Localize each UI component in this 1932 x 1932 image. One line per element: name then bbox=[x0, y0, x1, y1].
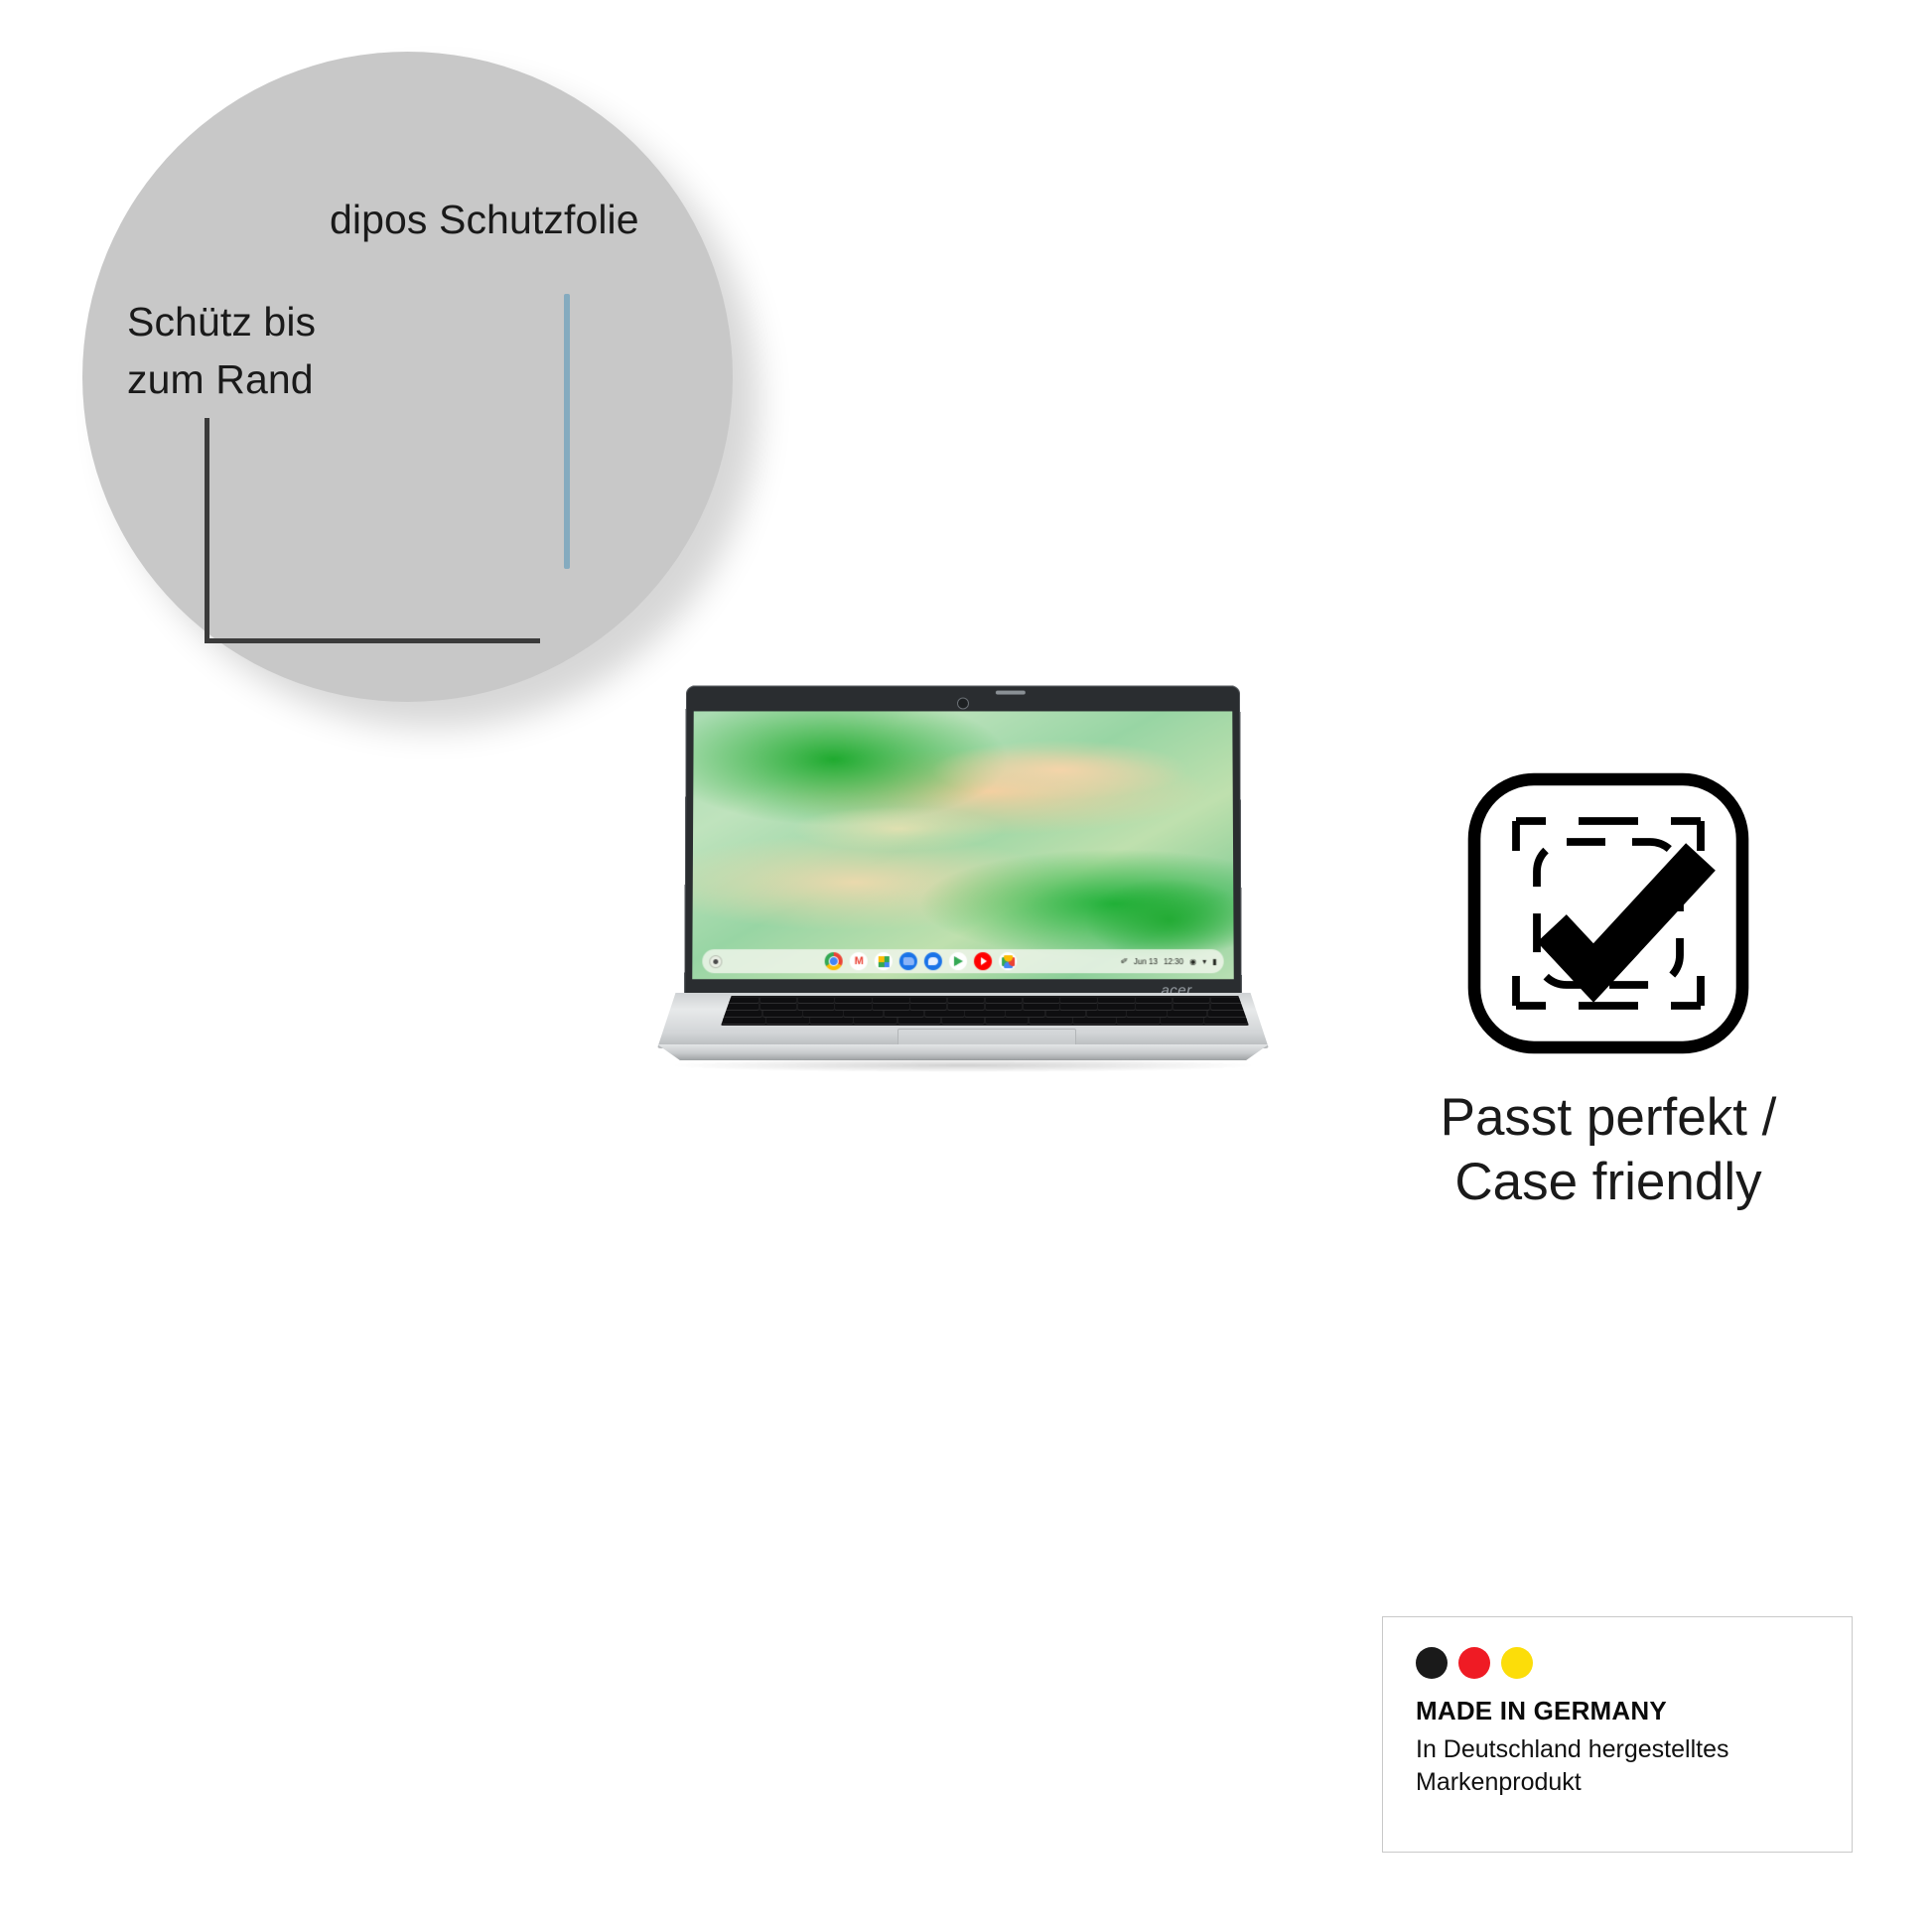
shelf-time: 12:30 bbox=[1164, 957, 1183, 966]
case-friendly-badge: Passt perfekt / Case friendly bbox=[1390, 764, 1827, 1214]
play-store-icon[interactable] bbox=[949, 952, 967, 970]
gmail-icon[interactable]: M bbox=[850, 952, 868, 970]
stylus-icon[interactable]: ✐ bbox=[1119, 955, 1129, 967]
launcher-button[interactable] bbox=[709, 955, 722, 968]
accessibility-icon[interactable]: ◉ bbox=[1189, 957, 1196, 966]
fit-check-icon bbox=[1459, 764, 1757, 1062]
made-in-germany-subtitle: In Deutschland hergestelltes Markenprodu… bbox=[1416, 1733, 1852, 1799]
chromeos-shelf: M ✐ Jun 13 12:30 ◉ ▾ ▮ bbox=[702, 949, 1223, 973]
shelf-app-list: M bbox=[722, 952, 1120, 970]
files-icon[interactable] bbox=[899, 952, 917, 970]
product-feature-graphic: dipos Schutzfolie Schütz bis zum Rand M bbox=[0, 0, 1932, 1932]
camera-slot bbox=[996, 691, 1026, 695]
key-row bbox=[721, 1018, 1249, 1023]
slides-icon[interactable] bbox=[875, 952, 893, 970]
chrome-icon[interactable] bbox=[825, 952, 843, 970]
youtube-icon[interactable] bbox=[975, 952, 993, 970]
key-row bbox=[721, 1011, 1249, 1016]
wifi-icon[interactable]: ▾ bbox=[1202, 957, 1206, 966]
bracket-vertical-line bbox=[205, 418, 209, 643]
camera-strip bbox=[694, 695, 1233, 712]
german-flag-dots bbox=[1416, 1647, 1852, 1679]
messages-icon[interactable] bbox=[924, 952, 942, 970]
laptop-drop-shadow bbox=[675, 1058, 1251, 1072]
shelf-date: Jun 13 bbox=[1134, 957, 1158, 966]
product-name-label: dipos Schutzfolie bbox=[330, 191, 639, 248]
battery-icon[interactable]: ▮ bbox=[1212, 957, 1216, 966]
bracket-horizontal-line bbox=[205, 638, 540, 643]
made-in-germany-badge: MADE IN GERMANY In Deutschland hergestel… bbox=[1382, 1616, 1853, 1853]
laptop-screen-wallpaper: M ✐ Jun 13 12:30 ◉ ▾ ▮ bbox=[692, 711, 1234, 979]
laptop-base bbox=[635, 993, 1291, 1070]
laptop-lid: M ✐ Jun 13 12:30 ◉ ▾ ▮ bbox=[684, 686, 1242, 1002]
made-in-germany-title: MADE IN GERMANY bbox=[1416, 1696, 1852, 1726]
laptop-product-photo: M ✐ Jun 13 12:30 ◉ ▾ ▮ bbox=[635, 685, 1291, 1023]
key-row bbox=[721, 998, 1249, 1003]
shelf-status-tray[interactable]: ✐ Jun 13 12:30 ◉ ▾ ▮ bbox=[1120, 956, 1216, 967]
flag-dot-red bbox=[1458, 1647, 1490, 1679]
blue-pointer-line bbox=[564, 294, 570, 569]
key-row bbox=[721, 1004, 1249, 1009]
flag-dot-gold bbox=[1501, 1647, 1533, 1679]
photos-icon[interactable] bbox=[1000, 952, 1018, 970]
laptop-palmrest bbox=[657, 993, 1269, 1048]
case-friendly-label: Passt perfekt / Case friendly bbox=[1441, 1086, 1777, 1214]
laptop-keyboard bbox=[721, 996, 1249, 1026]
webcam-icon bbox=[957, 698, 969, 710]
edge-protection-label: Schütz bis zum Rand bbox=[127, 293, 316, 408]
flag-dot-black bbox=[1416, 1647, 1448, 1679]
